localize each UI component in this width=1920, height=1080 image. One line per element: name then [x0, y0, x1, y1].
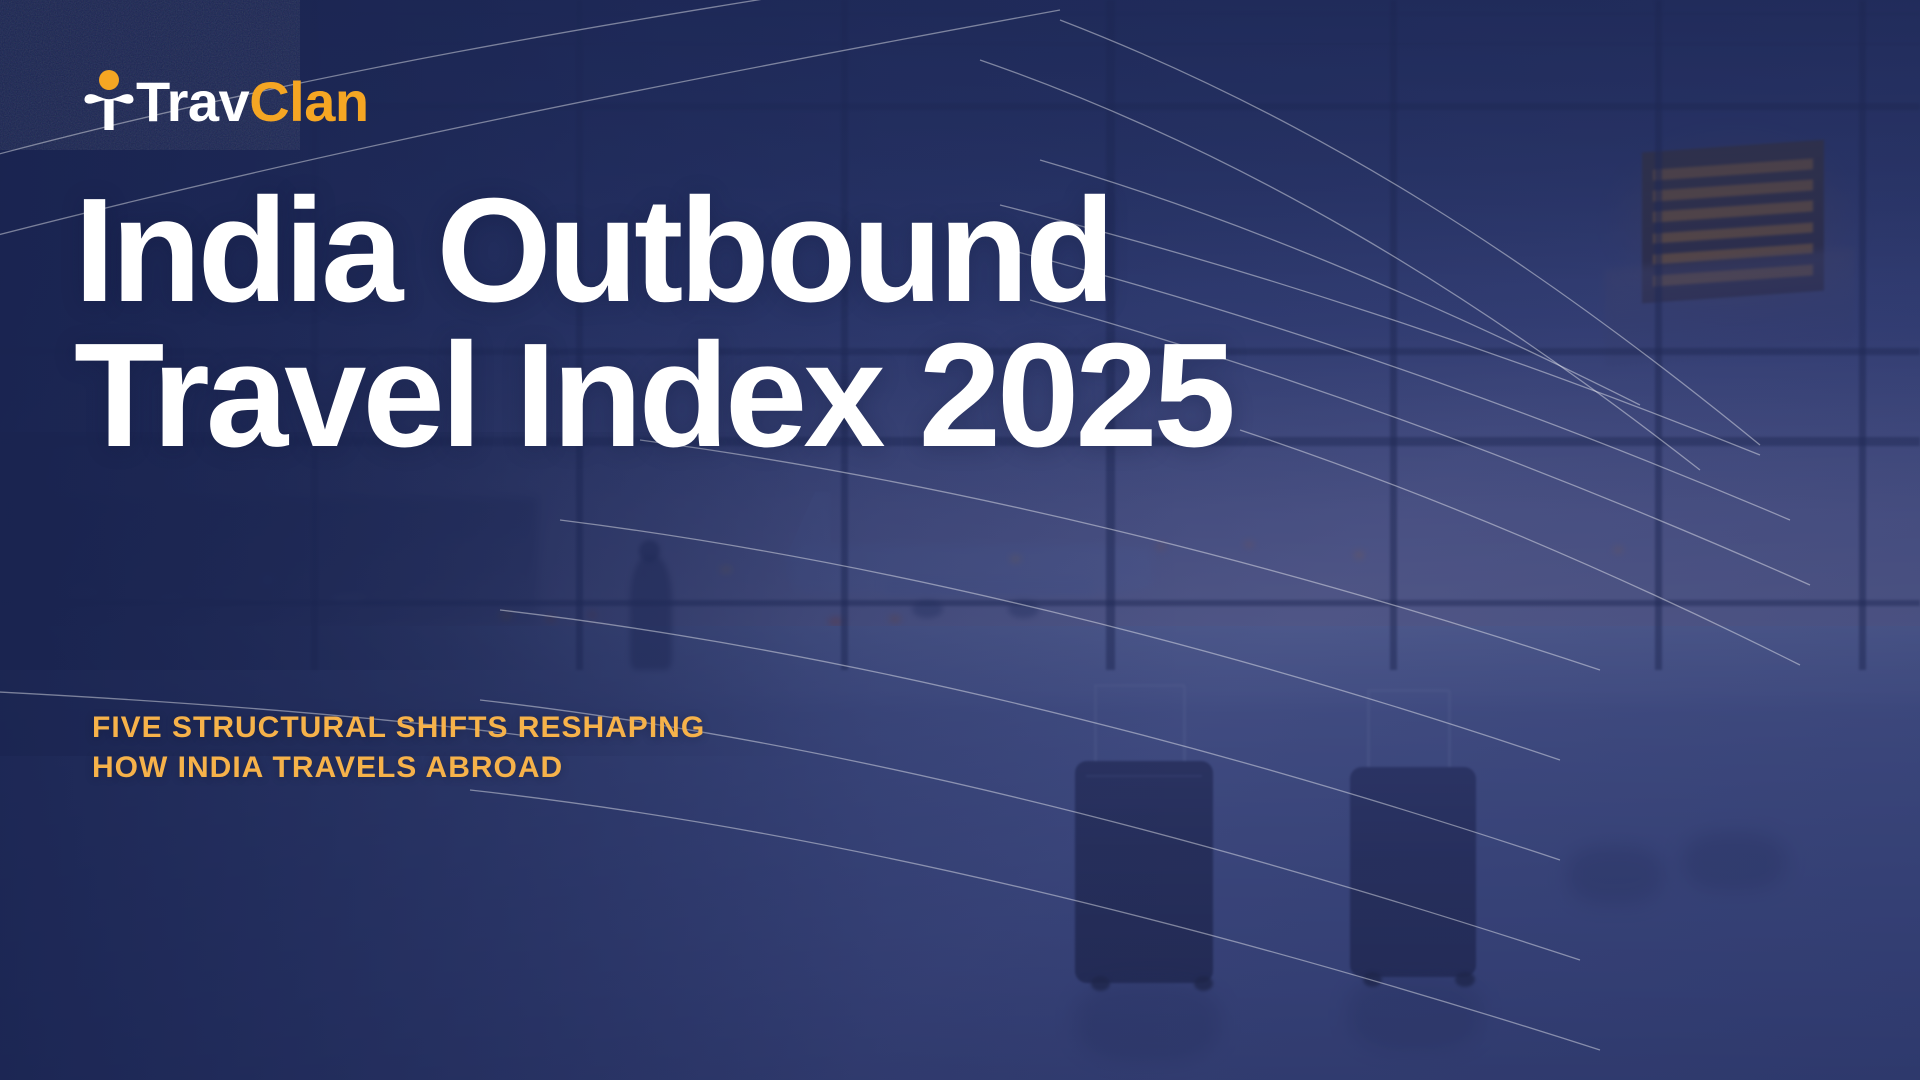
report-cover: TravClan India Outbound Travel Index 202…: [0, 0, 1920, 1080]
cover-content: TravClan India Outbound Travel Index 202…: [0, 0, 1920, 1080]
logo-text-trav: Trav: [136, 70, 249, 133]
subtitle-line-1: FIVE STRUCTURAL SHIFTS RESHAPING: [92, 708, 705, 748]
logo-wordmark: TravClan: [136, 74, 369, 130]
subtitle-line-2: HOW INDIA TRAVELS ABROAD: [92, 748, 705, 788]
page-subtitle: FIVE STRUCTURAL SHIFTS RESHAPING HOW IND…: [92, 708, 705, 787]
person-figure-icon: [80, 68, 138, 130]
headline-line-1: India Outbound: [74, 168, 1111, 333]
page-title: India Outbound Travel Index 2025: [74, 178, 1232, 468]
travclan-logo[interactable]: TravClan: [80, 68, 369, 130]
logo-text-clan: Clan: [249, 70, 368, 133]
headline-line-2: Travel Index 2025: [74, 323, 1232, 468]
